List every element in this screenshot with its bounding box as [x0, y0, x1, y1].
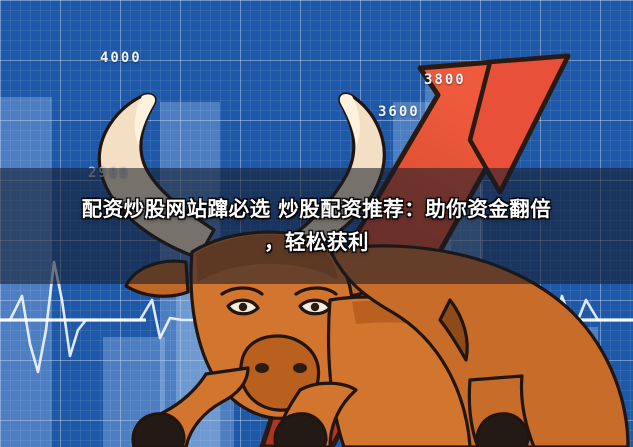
caption-line-1: 配资炒股网站蹿必选 炒股配资推荐：助你资金翻倍	[82, 194, 552, 225]
caption-band: 配资炒股网站蹿必选 炒股配资推荐：助你资金翻倍 ，轻松获利	[0, 168, 633, 284]
price-label-3800: 3800	[424, 72, 466, 88]
promo-banner: 4000 2900 3800 3600 配资炒股网站蹿必选 炒股配资推荐：助你资…	[0, 0, 633, 447]
price-label-4000: 4000	[100, 50, 142, 66]
price-label-3600: 3600	[378, 104, 420, 120]
caption-line-2: ，轻松获利	[264, 227, 369, 258]
